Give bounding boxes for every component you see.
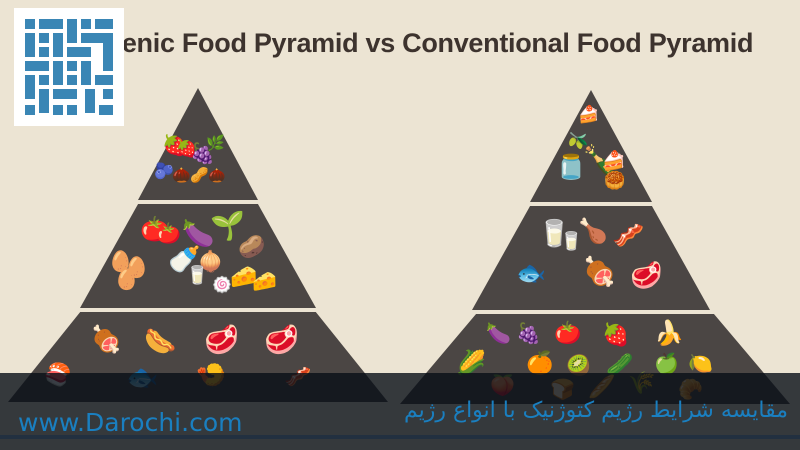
food-pork-ribs: 🥩 [630,262,662,288]
food-fried-fish-plate: 🐟 [516,262,546,286]
food-grapes: 🍇 [516,324,541,344]
food-eggplant: 🍆 [486,324,511,344]
infographic-canvas: 🍓 🍓 🍇 🌿 🫐 🌰 🥜 🌰 🍅 🍅 🍆 🌱 🧅 🥔 🥚 🥚 🥚 🍼 🥛 🧀 [0,0,800,450]
food-sausages: 🌭 [144,328,176,354]
conventional-pyramid: 🍰 🫒 🫙 🍾 🍰 🥮 🥛 🥛 🍗 🥓 🐟 🍖 🥩 🍆 🍇 🍅 🍓 � [400,80,800,400]
food-parsley: 🌿 [206,136,225,151]
food-beef-steak: 🥩 [204,326,239,354]
food-chocolate-cake-slice: 🍰 [602,152,626,171]
food-pineapple-pastry: 🥮 [604,172,625,189]
food-tbone-steak: 🥩 [264,326,299,354]
food-lemon: 🍋 [688,354,713,374]
food-strawberries: 🍓 [602,324,629,346]
conv-tier-top: 🍰 🫒 🫙 🍾 🍰 🥮 [530,90,652,202]
keto-tier-top: 🍓 🍓 🍇 🌿 🫐 🌰 🥜 🌰 [138,88,258,200]
food-mixed-nuts: 🥜 [190,168,209,183]
food-tomato-2: 🍅 [156,224,181,244]
site-url[interactable]: www.Darochi.com [18,408,242,437]
food-green-apple: 🍏 [654,354,679,374]
keto-tier-middle: 🍅 🍅 🍆 🌱 🧅 🥔 🥚 🥚 🥚 🍼 🥛 🧀 🧀 🍥 [80,204,316,308]
food-layer-cake: 🍰 [578,106,599,123]
food-blackberries: 🫐 [154,164,174,180]
food-brie: 🧀 [252,272,277,292]
food-seeds: 🌰 [208,168,225,182]
food-ham-leg: 🍗 [578,220,608,244]
food-canape: 🍥 [212,278,232,294]
food-orange-slice: 🍊 [526,352,553,374]
food-milk-glass: 🥛 [186,266,208,284]
kufic-logo-icon [23,17,115,117]
conv-tier-middle: 🥛 🥛 🍗 🥓 🐟 🍖 🥩 [472,206,710,310]
food-banana: 🍌 [654,322,684,346]
food-tomatoes: 🍅 [554,322,581,344]
food-pork-ham: 🍖 [582,258,617,286]
darochi-kufic-logo[interactable] [14,8,124,126]
food-bacon-strips: 🥓 [612,222,644,248]
ketogenic-pyramid: 🍓 🍓 🍇 🌿 🫐 🌰 🥜 🌰 🍅 🍅 🍆 🌱 🧅 🥔 🥚 🥚 🥚 🍼 🥛 🧀 [0,80,400,400]
food-ham-joint: 🍖 [90,326,122,352]
food-potato: 🥔 [238,236,265,258]
food-walnuts: 🌰 [172,168,191,183]
food-egg-3: 🥚 [114,270,139,290]
caption-persian: مقایسه شرایط رژیم کتوژنیک با انواع رژیم [404,398,788,423]
